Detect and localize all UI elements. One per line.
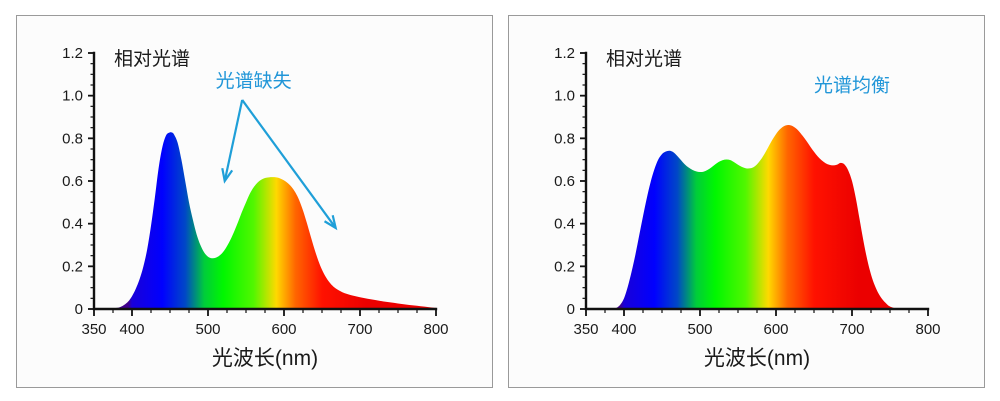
plot-title: 相对光谱	[606, 48, 682, 70]
y-tick-label: 0.2	[554, 258, 575, 275]
y-tick-label: 1.0	[62, 88, 83, 105]
x-tick-label: 800	[423, 321, 448, 338]
x-tick-label: 600	[271, 321, 296, 338]
y-tick-label: 1.2	[554, 45, 575, 62]
x-tick-label: 500	[687, 321, 712, 338]
x-tick-label: 400	[611, 321, 636, 338]
plot-area: 00.20.40.60.81.01.2350400500600700800光波长…	[509, 16, 984, 387]
annotation-label: 光谱缺失	[216, 70, 292, 92]
y-tick-label: 0.6	[62, 173, 83, 190]
y-tick-label: 1.2	[62, 45, 83, 62]
x-tick-label: 350	[81, 321, 106, 338]
annotation-arrow	[222, 100, 242, 181]
x-tick-label: 800	[915, 321, 940, 338]
y-tick-label: 0	[75, 301, 83, 318]
spectrum-area	[586, 125, 928, 309]
x-axis-title: 光波长(nm)	[212, 347, 318, 370]
x-tick-label: 500	[195, 321, 220, 338]
x-tick-label: 700	[839, 321, 864, 338]
y-tick-label: 0.8	[554, 130, 575, 147]
y-tick-label: 0.4	[554, 216, 575, 233]
y-tick-label: 0.2	[62, 258, 83, 275]
x-tick-label: 400	[119, 321, 144, 338]
y-tick-label: 0.6	[554, 173, 575, 190]
y-tick-label: 0.4	[62, 216, 83, 233]
x-tick-label: 700	[347, 321, 372, 338]
y-tick-label: 1.0	[554, 88, 575, 105]
y-tick-label: 0	[567, 301, 575, 318]
x-tick-label: 350	[573, 321, 598, 338]
x-tick-label: 600	[763, 321, 788, 338]
plot-area: 00.20.40.60.81.01.2350400500600700800光波长…	[17, 16, 492, 387]
panel-spectrum-balanced: 00.20.40.60.81.01.2350400500600700800光波长…	[508, 15, 985, 388]
figure-root: 00.20.40.60.81.01.2350400500600700800光波长…	[0, 0, 1000, 401]
y-tick-label: 0.8	[62, 130, 83, 147]
annotation-label: 光谱均衡	[814, 74, 890, 96]
x-axis-title: 光波长(nm)	[704, 347, 810, 370]
plot-title: 相对光谱	[114, 48, 190, 70]
spectrum-area	[94, 132, 436, 309]
panel-spectrum-deficient: 00.20.40.60.81.01.2350400500600700800光波长…	[16, 15, 493, 388]
